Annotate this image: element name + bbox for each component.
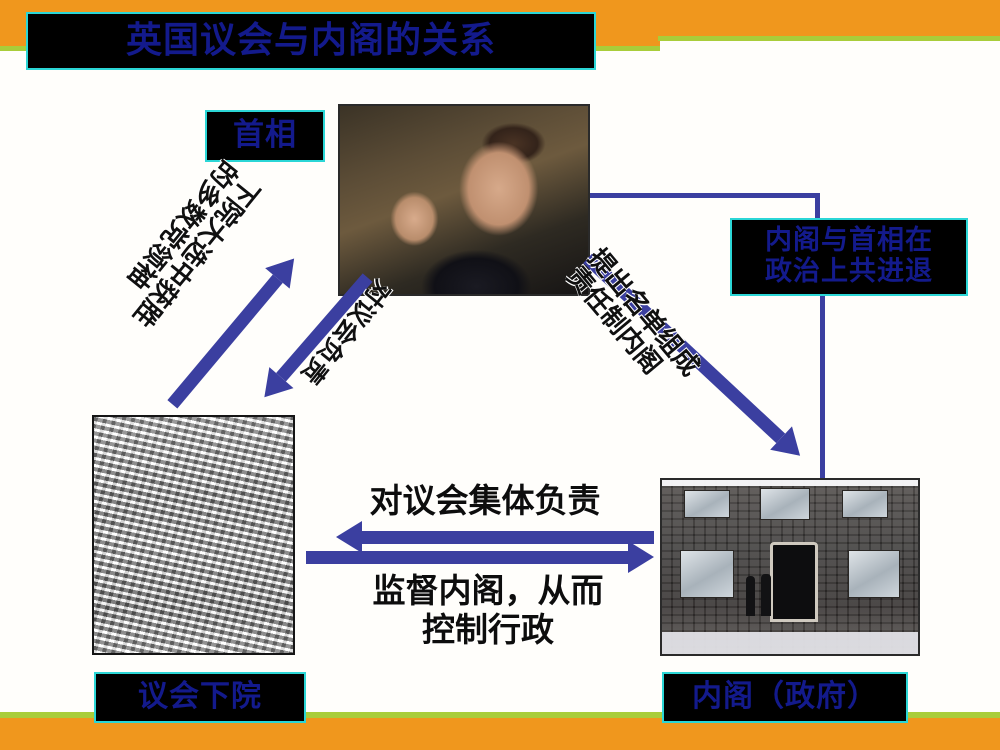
caption-collective-responsibility: 对议会集体负责 [330, 482, 640, 521]
pm-note-connector-vertical-top [815, 193, 820, 221]
house-of-commons-photo [92, 415, 295, 655]
window-shape [684, 490, 730, 518]
caption-supervise-cabinet: 监督内阁，从而 控制行政 [338, 572, 638, 650]
caption-pm-to-cabinet: 提出名单组成 责任制内阁 [561, 244, 704, 400]
pm-note-connector-horizontal [590, 193, 820, 198]
label-cabinet: 内阁（政府） [662, 672, 908, 723]
top-right-orange-band [658, 0, 1000, 36]
caption-commons-to-pm: 下院大选中获胜 的多数党领袖 [106, 155, 264, 332]
cabinet-note-connector-vertical [820, 296, 825, 482]
cabinet-pm-note-line-1: 内阁与首相在 [765, 226, 933, 257]
front-door-shape [770, 542, 818, 622]
downing-street-photo [660, 478, 920, 656]
guard-figure [746, 576, 755, 616]
cabinet-pm-note-line-2: 政治上共进退 [765, 257, 933, 288]
top-right-green-line [658, 36, 1000, 41]
window-shape [848, 550, 900, 598]
window-shape [760, 488, 810, 520]
page-title: 英国议会与内阁的关系 [26, 12, 596, 70]
window-shape [680, 550, 734, 598]
label-house-of-commons: 议会下院 [94, 672, 306, 723]
guard-figure [761, 574, 771, 616]
label-cabinet-pm-note: 内阁与首相在 政治上共进退 [730, 218, 968, 296]
window-shape [842, 490, 888, 518]
slide-canvas: 英国议会与内阁的关系 首相 内阁与首相在 政治上共进退 下院大选中获胜 的多 [0, 0, 1000, 750]
prime-minister-photo [338, 104, 590, 296]
label-prime-minister: 首相 [205, 110, 325, 162]
